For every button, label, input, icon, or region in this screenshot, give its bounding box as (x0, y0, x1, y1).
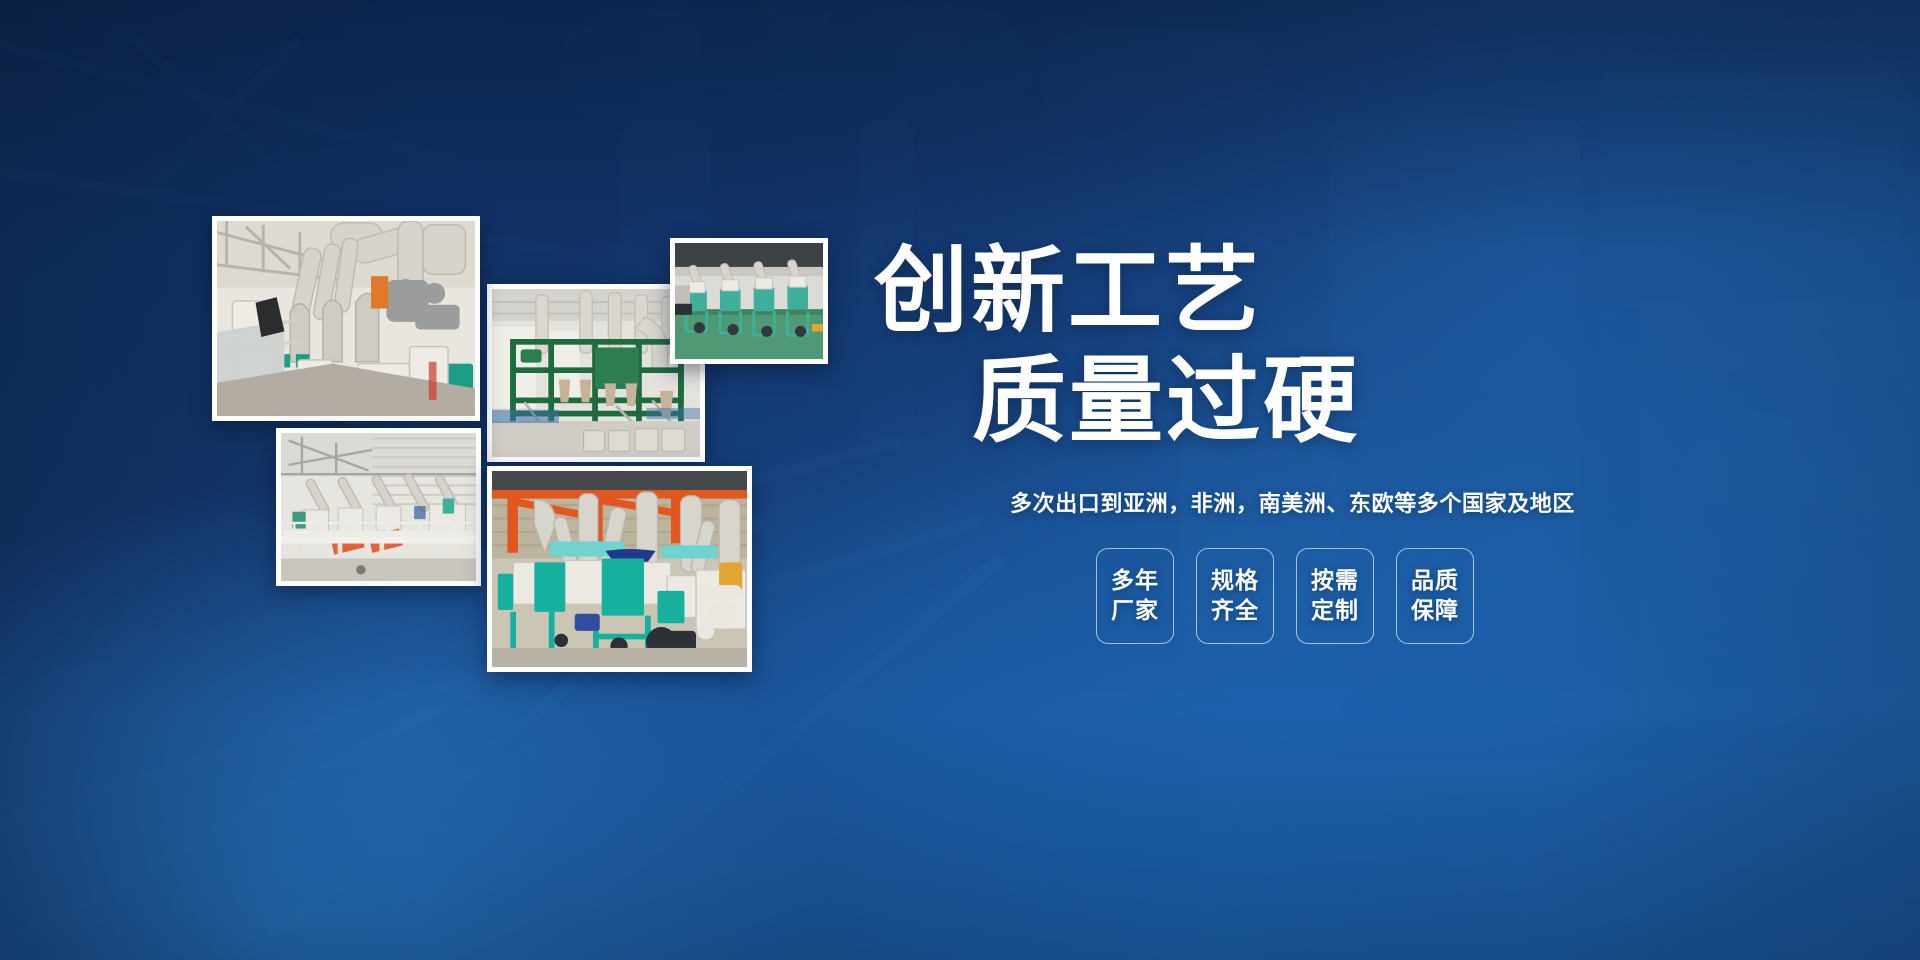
feature-badge-quality[interactable]: 品质 保障 (1396, 548, 1474, 644)
banner-copy: 创新工艺 质量过硬 多次出口到亚洲，非洲，南美洲、东欧等多个国家及地区 多年 厂… (860, 236, 1620, 644)
badge-line-bottom: 保障 (1411, 596, 1459, 626)
hero-banner: 创新工艺 质量过硬 多次出口到亚洲，非洲，南美洲、东欧等多个国家及地区 多年 厂… (0, 0, 1920, 960)
page-title: 创新工艺 质量过硬 (860, 236, 1620, 456)
platform-photo (276, 428, 481, 586)
badge-line-bottom: 齐全 (1211, 596, 1259, 626)
headline-line-1: 创新工艺 (860, 236, 1620, 346)
mill-line-photo (212, 216, 480, 421)
badge-line-top: 规格 (1211, 566, 1259, 596)
feature-badge-custom[interactable]: 按需 定制 (1296, 548, 1374, 644)
badge-line-top: 按需 (1311, 566, 1359, 596)
feature-badge-specs[interactable]: 规格 齐全 (1196, 548, 1274, 644)
badge-line-top: 多年 (1111, 566, 1159, 596)
badge-line-bottom: 厂家 (1111, 596, 1159, 626)
headline-line-2: 质量过硬 (860, 346, 1620, 456)
badge-line-top: 品质 (1411, 566, 1459, 596)
teal-mill-photo (487, 466, 752, 672)
banner-subtitle: 多次出口到亚洲，非洲，南美洲、东欧等多个国家及地区 (860, 486, 1620, 518)
badge-line-bottom: 定制 (1311, 596, 1359, 626)
feature-badge-row: 多年 厂家 规格 齐全 按需 定制 品质 保障 (860, 548, 1620, 644)
feature-badge-years[interactable]: 多年 厂家 (1096, 548, 1174, 644)
green-floor-photo (670, 238, 828, 364)
